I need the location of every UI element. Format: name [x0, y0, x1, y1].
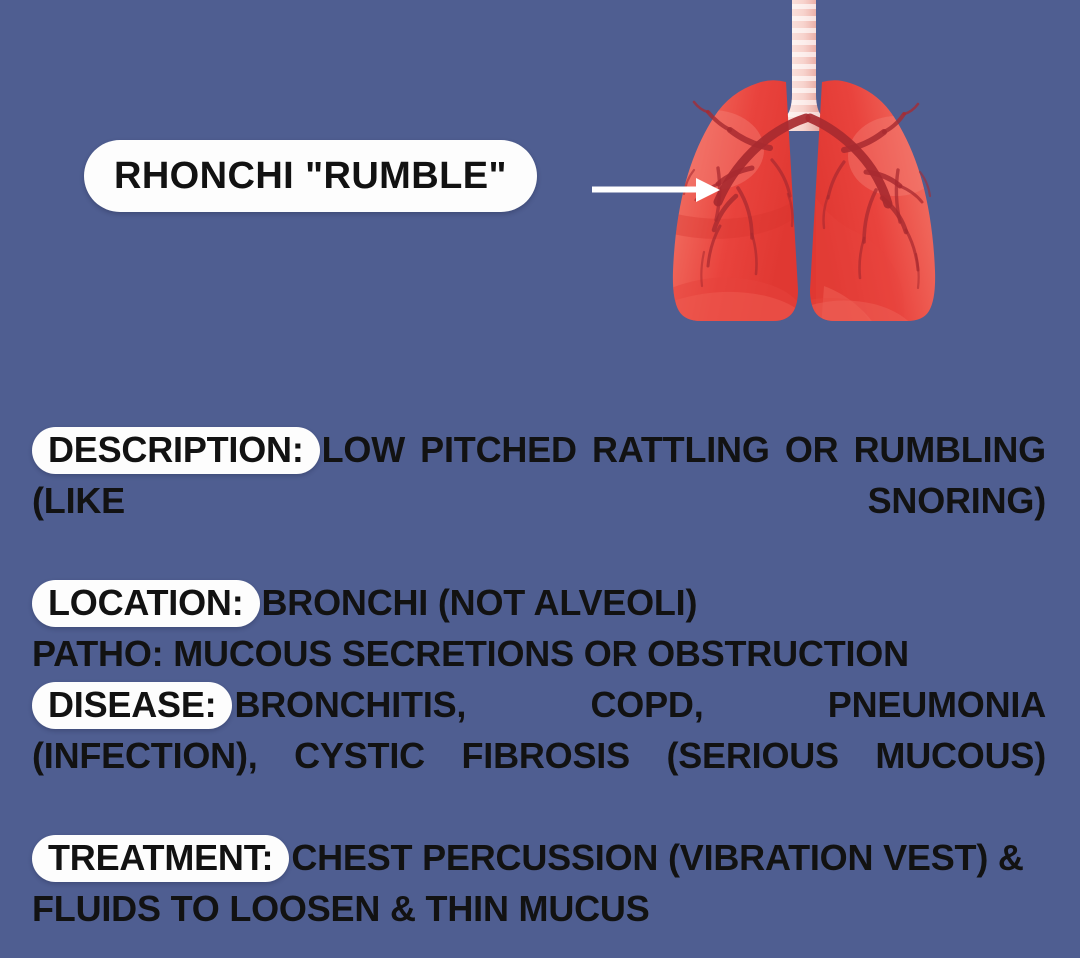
callout-title-text: RHONCHI "RUMBLE" [114, 157, 507, 195]
fact-row-patho: PATHO: MUCOUS SECRETIONS OR OBSTRUCTION [32, 628, 1046, 679]
fact-label-disease: DISEASE: [32, 682, 232, 729]
fact-row-disease: DISEASE:BRONCHITIS, COPD, PNEUMONIA (INF… [32, 679, 1046, 832]
fact-row-treatment: TREATMENT:CHEST PERCUSSION (VIBRATION VE… [32, 832, 1046, 934]
fact-row-location: LOCATION:BRONCHI (NOT ALVEOLI) [32, 577, 1046, 628]
fact-label-patho: PATHO: [32, 633, 163, 674]
fact-body-patho: MUCOUS SECRETIONS OR OBSTRUCTION [173, 633, 909, 674]
fact-label-location: LOCATION: [32, 580, 260, 627]
fact-row-description: DESCRIPTION:LOW PITCHED RATTLING OR RUMB… [32, 424, 1046, 577]
callout-arrow [592, 168, 722, 214]
right-lung-icon [790, 80, 944, 360]
fact-label-description: DESCRIPTION: [32, 427, 320, 474]
infographic-canvas: RHONCHI "RUMBLE" DESCRIPTION:LOW PITCHED… [0, 0, 1080, 958]
fact-list: DESCRIPTION:LOW PITCHED RATTLING OR RUMB… [32, 424, 1046, 934]
callout-title-pill: RHONCHI "RUMBLE" [84, 140, 537, 212]
fact-label-treatment: TREATMENT: [32, 835, 289, 882]
fact-body-location: BRONCHI (NOT ALVEOLI) [262, 582, 698, 623]
